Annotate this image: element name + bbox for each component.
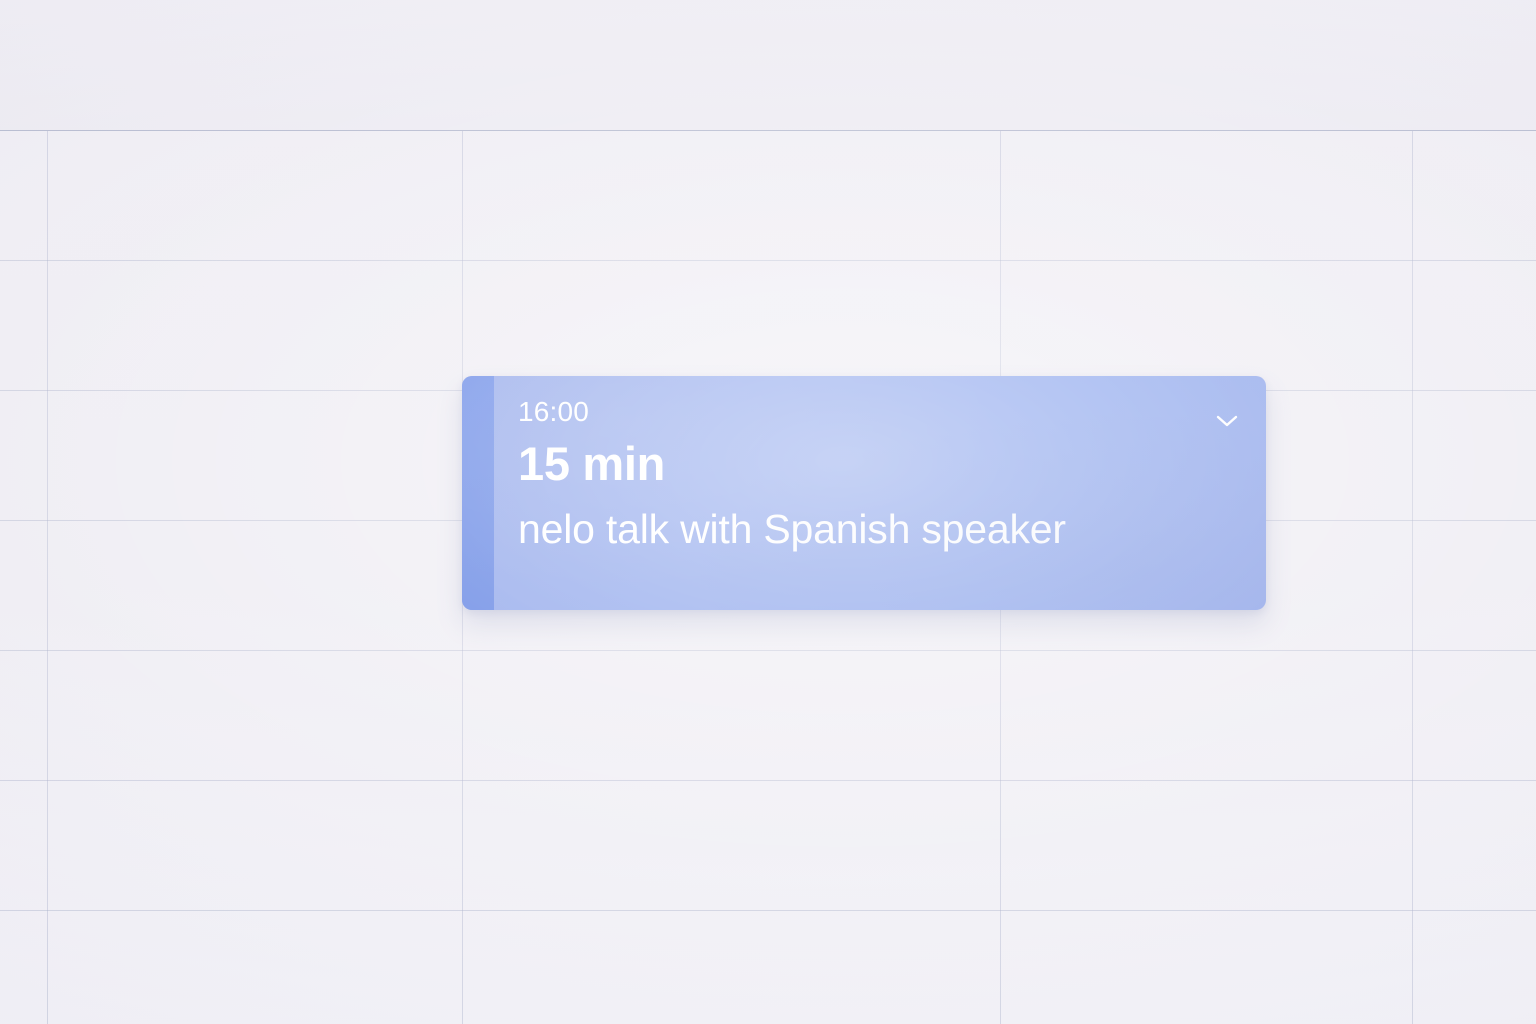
event-title-label: nelo talk with Spanish speaker <box>518 504 1240 554</box>
chevron-down-icon[interactable] <box>1210 406 1244 436</box>
grid-vline <box>1412 131 1413 1024</box>
event-duration-label: 15 min <box>518 436 1240 492</box>
calendar-surface: 16:00 15 min nelo talk with Spanish spea… <box>0 0 1536 1024</box>
calendar-event-card[interactable]: 16:00 15 min nelo talk with Spanish spea… <box>462 376 1266 610</box>
event-time-label: 16:00 <box>518 396 589 428</box>
grid-hline <box>0 780 1536 781</box>
grid-vline <box>47 131 48 1024</box>
grid-hline <box>0 910 1536 911</box>
event-accent-stripe <box>462 376 494 610</box>
grid-hline <box>0 130 1536 131</box>
calendar-header-strip <box>0 0 1536 131</box>
event-header-row: 16:00 <box>518 396 1240 430</box>
event-card-body: 16:00 15 min nelo talk with Spanish spea… <box>494 376 1266 610</box>
grid-hline <box>0 260 1536 261</box>
grid-hline <box>0 650 1536 651</box>
